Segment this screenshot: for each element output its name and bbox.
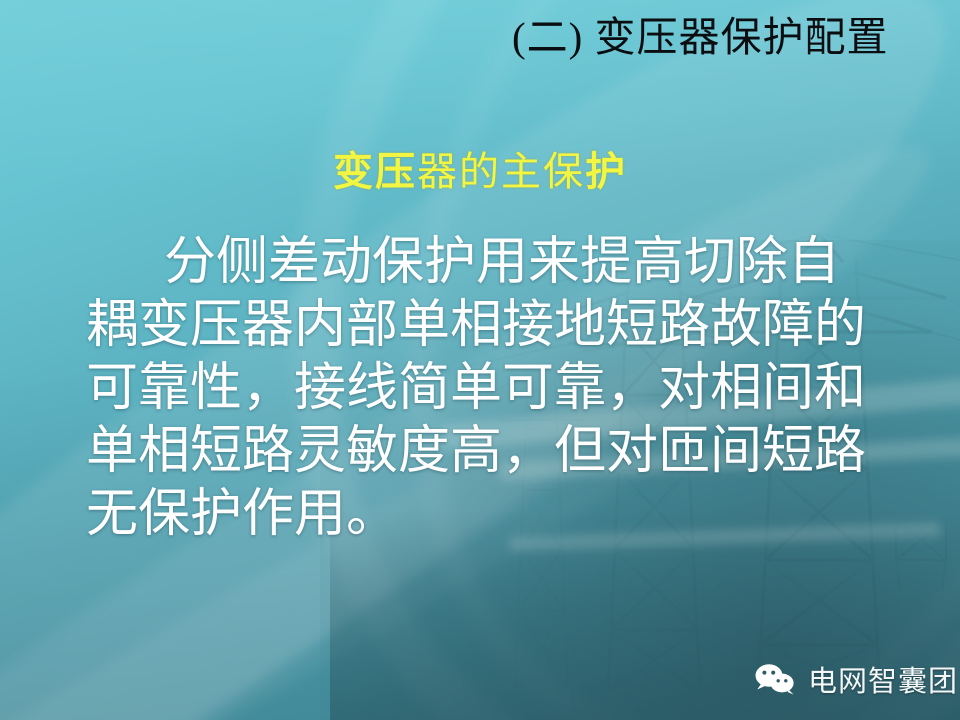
wechat-icon bbox=[752, 662, 798, 696]
subtitle-segment-3: 护 bbox=[585, 149, 627, 194]
section-subtitle: 变压器的主保护 bbox=[0, 148, 960, 196]
slide-canvas: (二) 变压器保护配置 变压器的主保护 分侧差动保护用来提高切除自 耦变压器内部… bbox=[0, 0, 960, 720]
subtitle-segment-1: 变压 bbox=[333, 149, 417, 194]
body-line: 耦变压器内部单相接地短路故障的 bbox=[86, 294, 916, 357]
page-title: (二) 变压器保护配置 bbox=[512, 14, 889, 61]
body-line: 分侧差动保护用来提高切除自 bbox=[86, 231, 916, 294]
subtitle-segment-2: 器的主保 bbox=[417, 149, 585, 194]
body-line: 单相短路灵敏度高，但对匝间短路 bbox=[86, 420, 916, 483]
watermark: 电网智囊团 bbox=[752, 658, 958, 700]
body-paragraph: 分侧差动保护用来提高切除自 耦变压器内部单相接地短路故障的 可靠性，接线简单可靠… bbox=[86, 231, 916, 546]
watermark-label: 电网智囊团 bbox=[808, 658, 958, 700]
body-line: 可靠性，接线简单可靠，对相间和 bbox=[86, 357, 916, 420]
body-line: 无保护作用。 bbox=[86, 483, 916, 546]
